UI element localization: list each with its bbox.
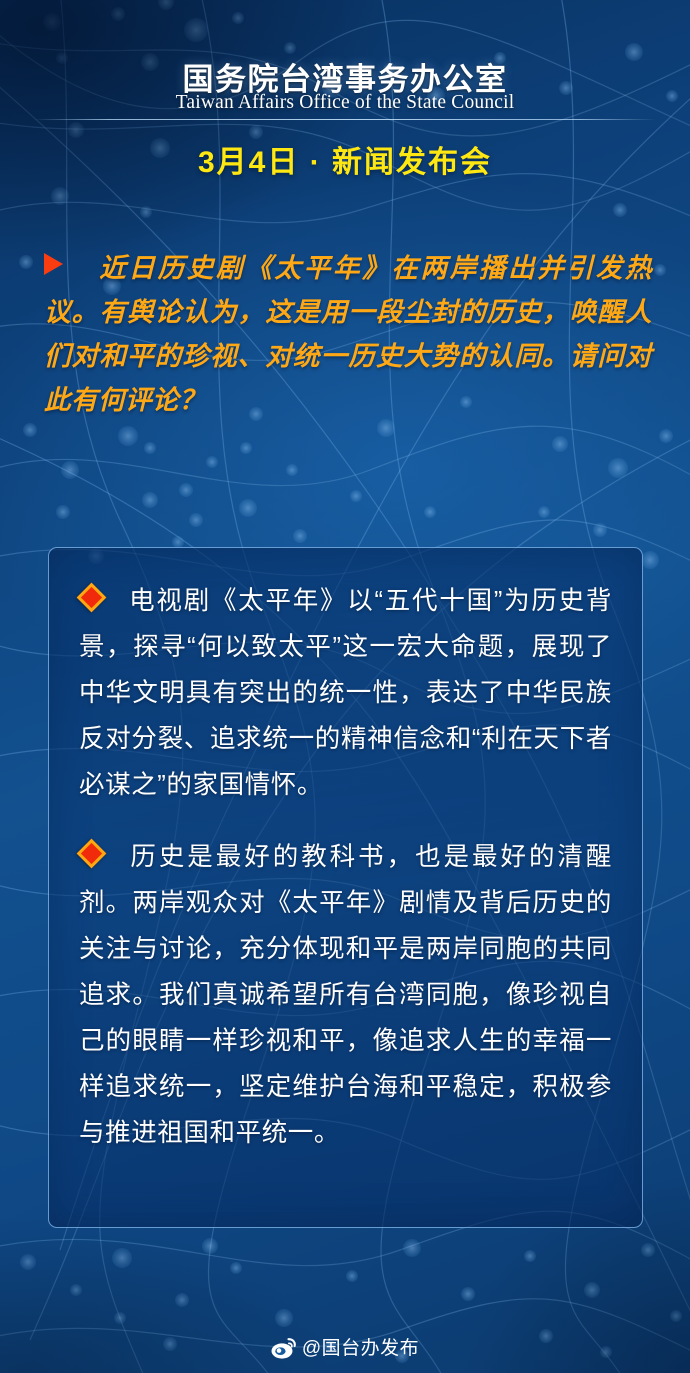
triangle-right-icon	[44, 253, 63, 275]
org-title-english: Taiwan Affairs Office of the State Counc…	[0, 92, 690, 114]
answer-card: 电视剧《太平年》以“五代十国”为历史背景，探寻“何以致太平”这一宏大命题，展现了…	[48, 547, 643, 1228]
footer-attribution: @国台办发布	[0, 1333, 690, 1365]
answer-paragraph-text: 历史是最好的教科书，也是最好的清醒剂。两岸观众对《太平年》剧情及背后历史的关注与…	[79, 843, 612, 1147]
answer-paragraph: 电视剧《太平年》以“五代十国”为历史背景，探寻“何以致太平”这一宏大命题，展现了…	[79, 578, 612, 808]
weibo-logo-icon	[271, 1338, 297, 1365]
banner-divider	[34, 119, 656, 120]
poster-root: 国务院台湾事务办公室 Taiwan Affairs Office of the …	[0, 0, 690, 1373]
diamond-icon	[77, 839, 107, 869]
answer-paragraph: 历史是最好的教科书，也是最好的清醒剂。两岸观众对《太平年》剧情及背后历史的关注与…	[79, 834, 612, 1156]
answer-paragraph-text: 电视剧《太平年》以“五代十国”为历史背景，探寻“何以致太平”这一宏大命题，展现了…	[79, 587, 612, 799]
weibo-handle: @国台办发布	[302, 1338, 419, 1359]
question-text: 近日历史剧《太平年》在两岸播出并引发热议。有舆论认为，这是用一段尘封的历史，唤醒…	[44, 253, 652, 415]
diamond-icon	[77, 583, 107, 613]
press-conference-date: 3月4日 · 新闻发布会	[0, 137, 690, 181]
question-block: 近日历史剧《太平年》在两岸播出并引发热议。有舆论认为，这是用一段尘封的历史，唤醒…	[44, 246, 652, 422]
header-banner: 国务院台湾事务办公室 Taiwan Affairs Office of the …	[0, 0, 690, 192]
